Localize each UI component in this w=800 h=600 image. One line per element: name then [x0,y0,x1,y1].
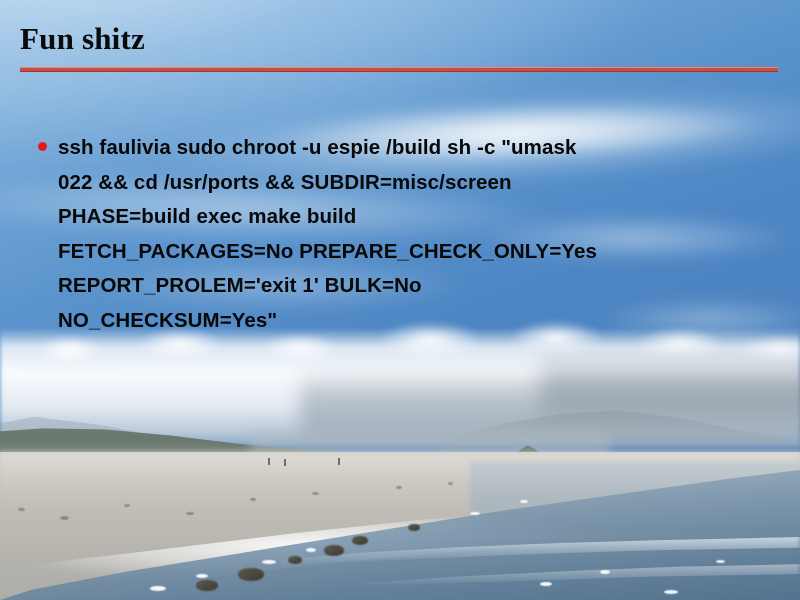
sand-debris [186,512,194,515]
slide-title: Fun shitz [20,20,145,58]
title-underline-rule [20,67,778,72]
bullet-dot-icon [38,142,47,151]
distant-person [284,459,286,466]
sand-debris [124,504,130,507]
foam-sparkle [196,574,208,578]
sand-debris [60,516,69,520]
sand-debris [250,498,256,501]
foam-sparkle [664,590,678,594]
foam-sparkle [600,570,610,574]
distant-person [268,458,270,465]
bullet-item-text: ssh faulivia sudo chroot -u espie /build… [36,131,776,338]
foam-sparkle [716,560,725,563]
kelp-clump [352,536,368,545]
sand-debris [312,492,319,495]
cloud-shadow [540,352,800,422]
kelp-clump [196,580,218,591]
sand-debris [396,486,402,489]
kelp-clump [288,556,302,564]
kelp-clump [408,524,420,531]
kelp-clump [324,545,344,556]
foam-sparkle [540,582,552,586]
kelp-clump [238,568,264,581]
foam-sparkle [520,500,528,503]
bullet-list-item: ssh faulivia sudo chroot -u espie /build… [36,131,776,338]
sand-debris [18,508,25,511]
distant-person [338,458,340,465]
foam-sparkle [150,586,166,591]
foam-sparkle [306,548,316,552]
slide-body: ssh faulivia sudo chroot -u espie /build… [36,131,776,338]
sand-debris [448,482,453,485]
foam-sparkle [470,512,480,515]
presentation-slide: Fun shitz ssh faulivia sudo chroot -u es… [0,0,800,600]
foam-sparkle [262,560,276,564]
